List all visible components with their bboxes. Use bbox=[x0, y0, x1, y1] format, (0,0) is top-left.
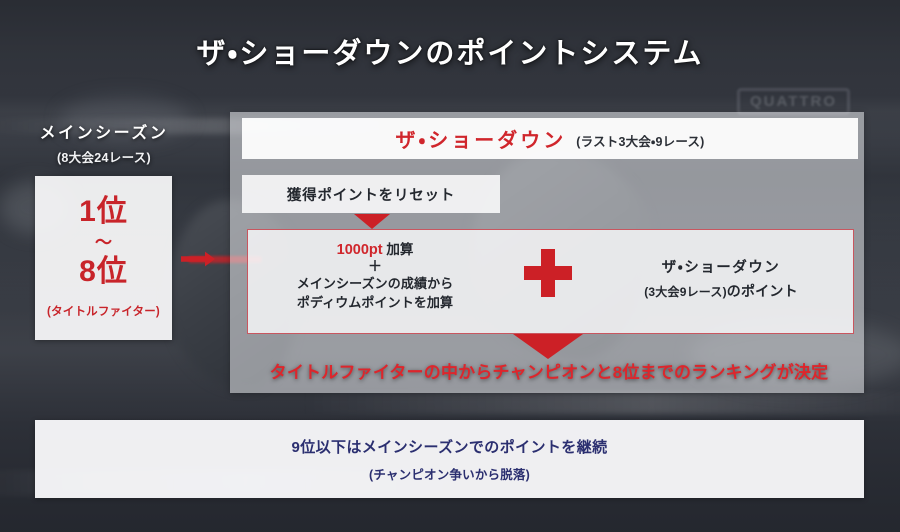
triangle-down-icon bbox=[354, 214, 390, 229]
showdown-subtitle: (ラスト3大会・9レース) bbox=[576, 127, 704, 150]
background-banner-text: QUATTRO bbox=[737, 88, 850, 115]
showdown-points-races: (3大会9レース) bbox=[644, 285, 727, 299]
showdown-title: ザ・ショーダウン bbox=[395, 124, 566, 153]
ninth-and-below-sub: (チャンピオン争いから脱落) bbox=[369, 464, 530, 483]
infographic-stage: QUATTRO ザ・ショーダウンのポイントシステム メインシーズン (8大会24… bbox=[0, 0, 900, 532]
showdown-points-suffix: のポイント bbox=[727, 283, 798, 299]
showdown-header: ザ・ショーダウン (ラスト3大会・9レース) bbox=[242, 118, 858, 159]
podium-detail-line-2: ポディウムポイントを加算 bbox=[255, 294, 495, 312]
title-fighter-rank-box: 1位 〜 8位 (タイトルファイター) bbox=[35, 176, 172, 340]
calculation-left-group: 1000pt 加算 ＋ メインシーズンの成績から ポディウムポイントを加算 bbox=[255, 238, 495, 312]
rank-separator: 〜 bbox=[95, 234, 112, 251]
podium-detail-line-1: メインシーズンの成績から bbox=[255, 275, 495, 293]
ninth-and-below-bar: 9位以下はメインシーズンでのポイントを継続 (チャンピオン争いから脱落) bbox=[35, 420, 864, 498]
bonus-points-line: 1000pt 加算 bbox=[255, 238, 495, 258]
calculation-right-group: ザ・ショーダウン (3大会9レース)のポイント bbox=[596, 256, 846, 301]
bonus-points-value: 1000pt bbox=[337, 242, 383, 258]
reset-points-label: 獲得ポイントをリセット bbox=[287, 184, 455, 205]
conclusion-text: タイトルファイターの中からチャンピオンと8位までのランキングが決定 bbox=[236, 358, 862, 383]
ninth-and-below-main: 9位以下はメインシーズンでのポイントを継続 bbox=[292, 436, 608, 457]
background-streak bbox=[300, 392, 900, 414]
rank-bottom: 8位 bbox=[79, 257, 128, 287]
arrow-right-icon bbox=[181, 251, 215, 267]
page-title: ザ・ショーダウンのポイントシステム bbox=[0, 30, 900, 72]
showdown-points-title: ザ・ショーダウン bbox=[596, 256, 846, 277]
small-plus-operator: ＋ bbox=[255, 259, 495, 274]
main-season-column: メインシーズン (8大会24レース) bbox=[22, 119, 186, 166]
title-fighter-note: (タイトルファイター) bbox=[47, 303, 160, 319]
reset-points-box: 獲得ポイントをリセット bbox=[242, 175, 500, 213]
main-season-heading: メインシーズン bbox=[22, 119, 186, 143]
main-season-subtitle: (8大会24レース) bbox=[22, 147, 186, 166]
bonus-points-suffix: 加算 bbox=[386, 242, 413, 257]
showdown-points-detail: (3大会9レース)のポイント bbox=[596, 281, 846, 301]
plus-icon bbox=[524, 249, 572, 297]
triangle-down-large-icon bbox=[513, 334, 583, 359]
rank-top: 1位 bbox=[79, 197, 128, 227]
